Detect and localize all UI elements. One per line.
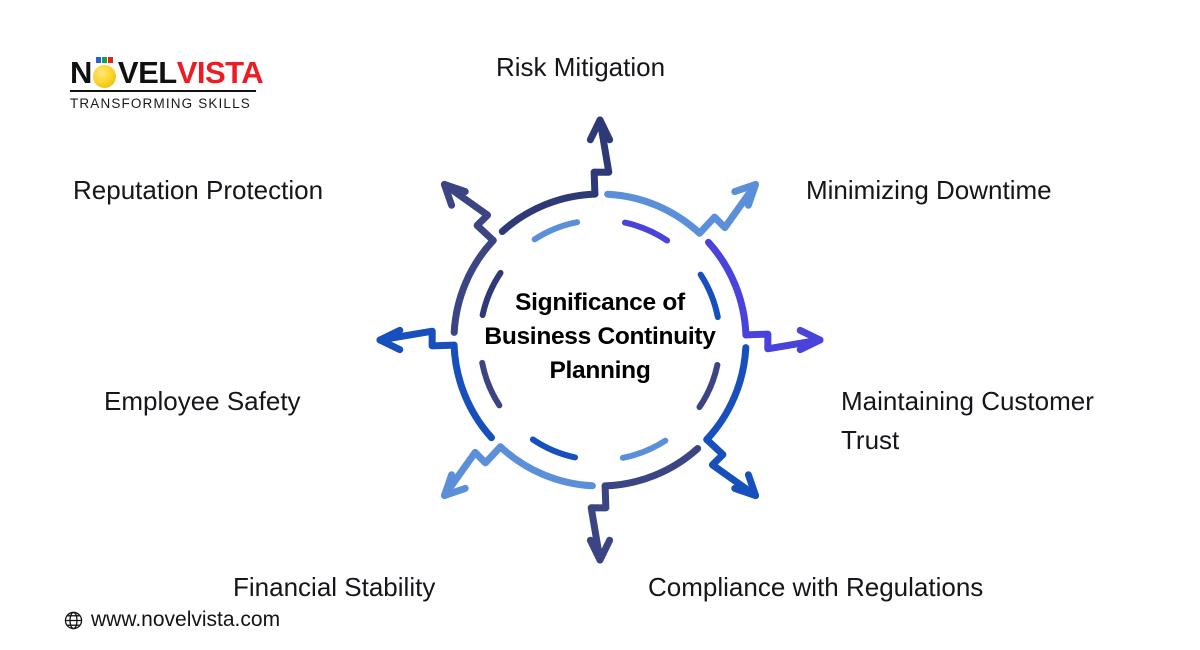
segment-arrow-shaft xyxy=(444,184,493,240)
segment-inner-arc xyxy=(625,223,667,241)
spoke-label-minimizing-downtime: Minimizing Downtime xyxy=(806,171,1052,210)
cycle-segment-minimizing-downtime xyxy=(608,184,756,240)
segment-arrow-shaft xyxy=(444,447,500,496)
diagram-center-title: Significance of Business Continuity Plan… xyxy=(455,286,745,387)
segment-outer-arc xyxy=(605,449,698,486)
spoke-label-reputation-protection: Reputation Protection xyxy=(73,171,323,210)
cycle-segment-financial-stability xyxy=(590,441,697,560)
spoke-label-employee-safety: Employee Safety xyxy=(104,382,301,421)
center-title-line-2: Business Continuity xyxy=(455,320,745,354)
cycle-segment-risk-mitigation xyxy=(502,120,609,239)
spoke-label-maintaining-customer-trust: Maintaining Customer Trust xyxy=(841,382,1094,460)
segment-arrow-shaft xyxy=(700,184,756,233)
center-title-line-1: Significance of xyxy=(455,286,745,320)
spoke-label-compliance-with-regulations: Compliance with Regulations xyxy=(648,568,983,607)
spoke-label-risk-mitigation: Risk Mitigation xyxy=(496,48,665,87)
website-url: www.novelvista.com xyxy=(91,608,280,632)
center-title-line-3: Planning xyxy=(455,354,745,388)
website-footer: www.novelvista.com xyxy=(63,608,280,632)
segment-outer-arc xyxy=(502,194,595,231)
segment-inner-arc xyxy=(623,441,665,458)
segment-inner-arc xyxy=(535,222,577,239)
cycle-segment-employee-safety xyxy=(444,439,592,495)
segment-inner-arc xyxy=(533,439,575,457)
spoke-label-financial-stability: Financial Stability xyxy=(233,568,435,607)
segment-outer-arc xyxy=(500,447,592,486)
cycle-diagram: Significance of Business Continuity Plan… xyxy=(0,0,1200,650)
segment-outer-arc xyxy=(608,194,700,233)
globe-icon xyxy=(63,610,84,631)
segment-arrow-shaft xyxy=(707,440,756,496)
